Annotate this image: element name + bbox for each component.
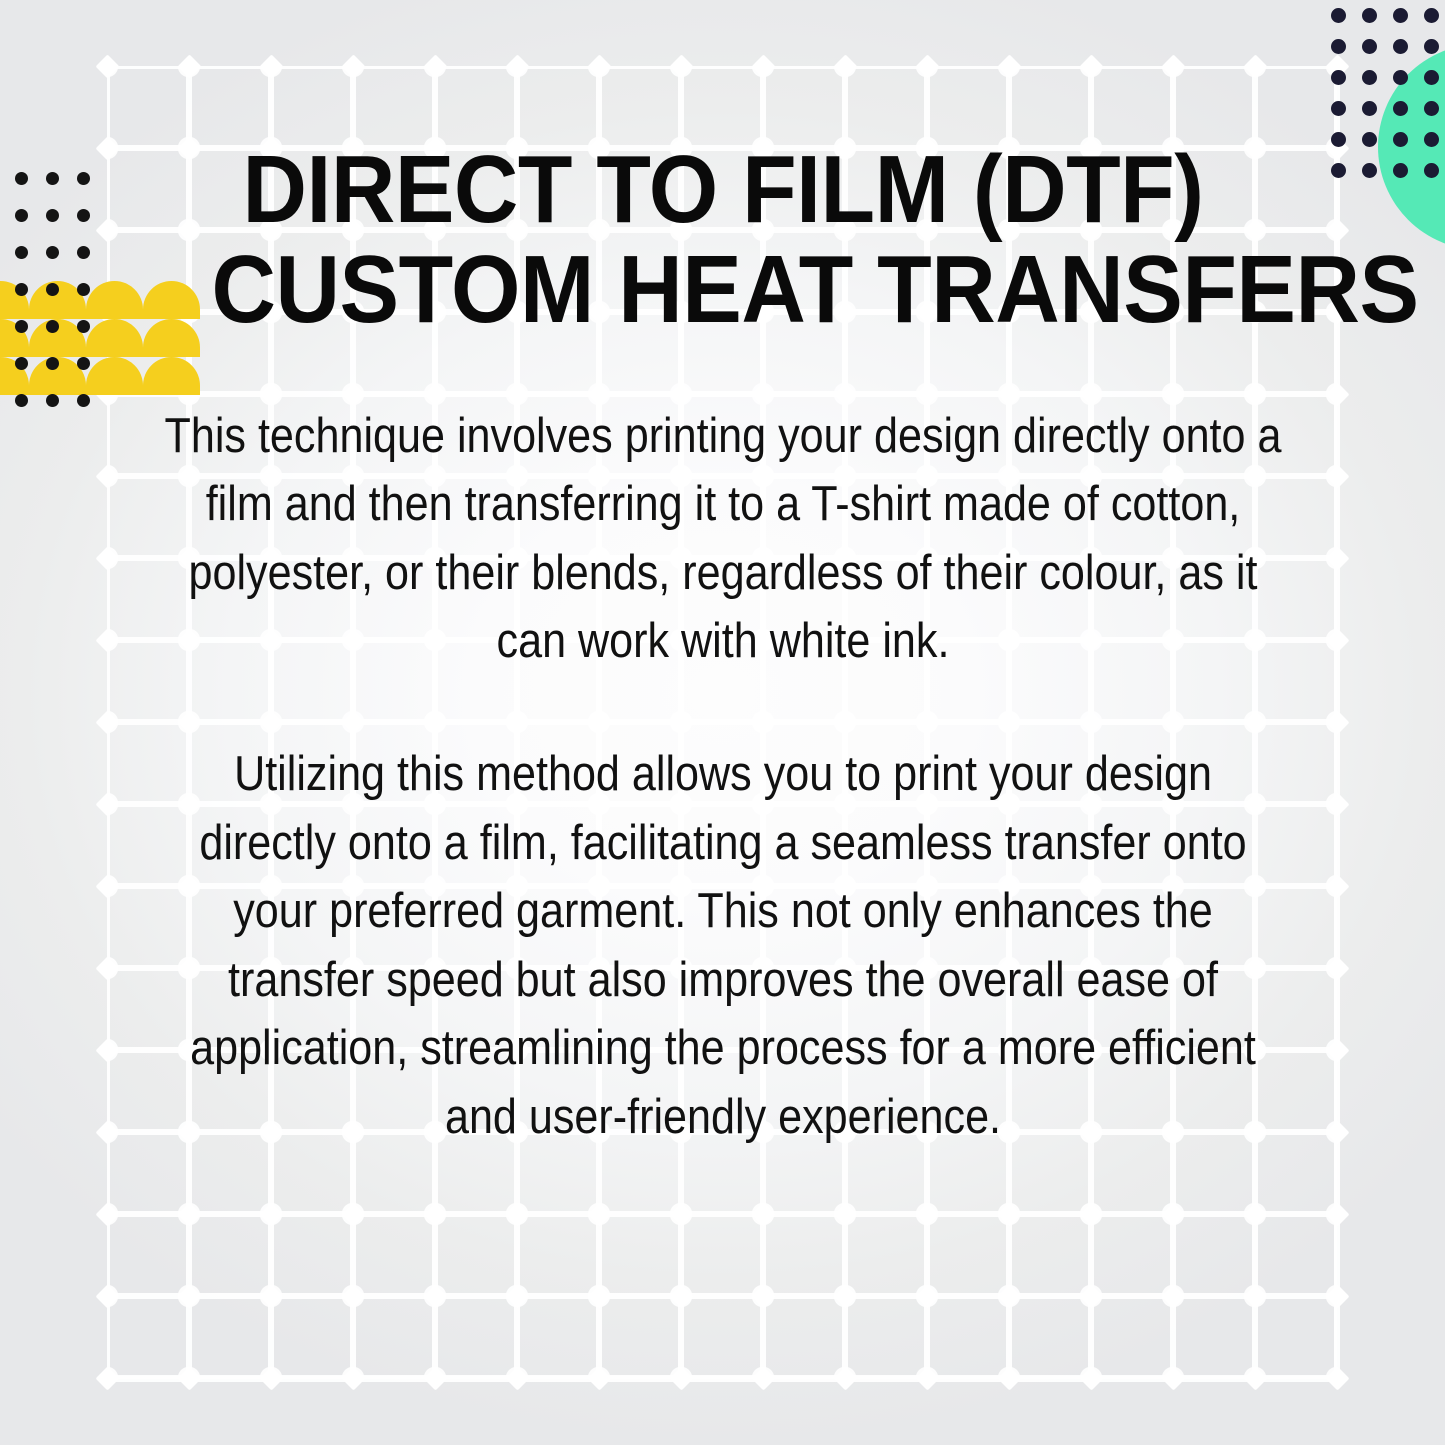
title-line-2: CUSTOM HEAT TRANSFERS xyxy=(211,240,1234,340)
paragraph-1: This technique involves printing your de… xyxy=(164,402,1282,676)
page-title: DIRECT TO FILM (DTF) CUSTOM HEAT TRANSFE… xyxy=(211,140,1234,340)
content-area: DIRECT TO FILM (DTF) CUSTOM HEAT TRANSFE… xyxy=(0,0,1445,1445)
poster-canvas: DIRECT TO FILM (DTF) CUSTOM HEAT TRANSFE… xyxy=(0,0,1445,1445)
paragraph-2: Utilizing this method allows you to prin… xyxy=(164,740,1282,1152)
body-copy: This technique involves printing your de… xyxy=(164,402,1282,1152)
title-line-1: DIRECT TO FILM (DTF) xyxy=(211,140,1234,240)
